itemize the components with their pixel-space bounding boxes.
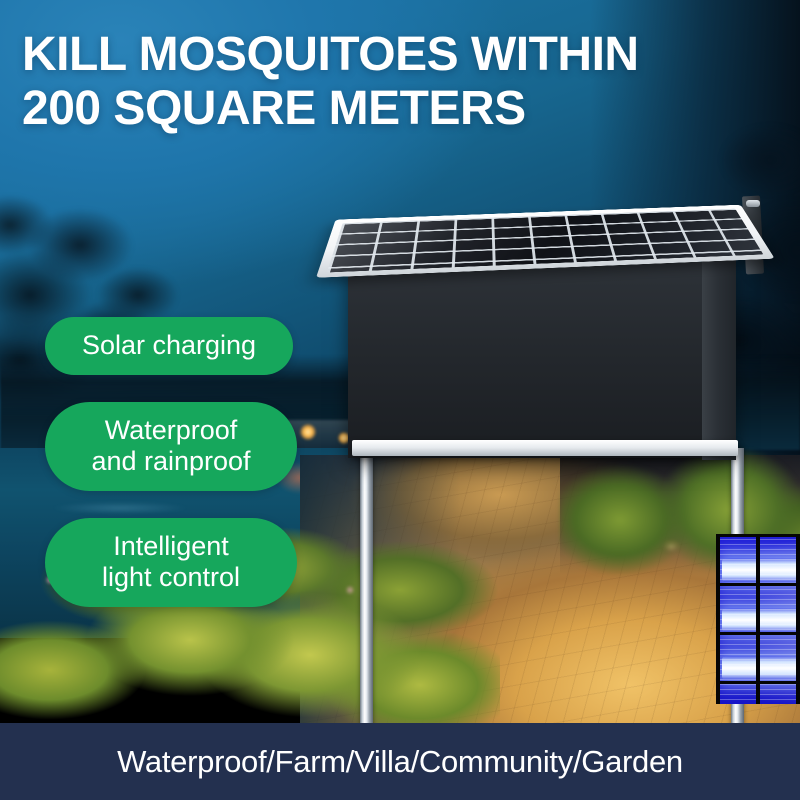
uv-lamp-window: [716, 534, 800, 704]
headline-line-1: KILL MOSQUITOES WITHIN: [22, 28, 762, 82]
product-advertisement-poster: KILL MOSQUITOES WITHIN 200 SQUARE METERS…: [0, 0, 800, 800]
footer-banner: Waterproof/Farm/Villa/Community/Garden: [0, 723, 800, 800]
lamp-side-panel: [702, 248, 736, 460]
feature-badge-list: Solar charging Waterproof and rainproof …: [45, 317, 297, 607]
feature-badge-solar-charging: Solar charging: [45, 317, 293, 375]
mounting-pole-left: [360, 448, 373, 748]
lamp-base-rail: [352, 440, 738, 456]
bracket-bolt: [746, 200, 760, 207]
feature-badge-intelligent-light-control: Intelligent light control: [45, 518, 297, 607]
grid-bars-vertical: [716, 534, 800, 704]
lamp-enclosure-body: [348, 262, 734, 458]
headline-line-2: 200 SQUARE METERS: [22, 82, 762, 136]
feature-badge-waterproof-rainproof: Waterproof and rainproof: [45, 402, 297, 491]
headline: KILL MOSQUITOES WITHIN 200 SQUARE METERS: [22, 28, 762, 136]
footer-banner-text: Waterproof/Farm/Villa/Community/Garden: [117, 744, 683, 780]
